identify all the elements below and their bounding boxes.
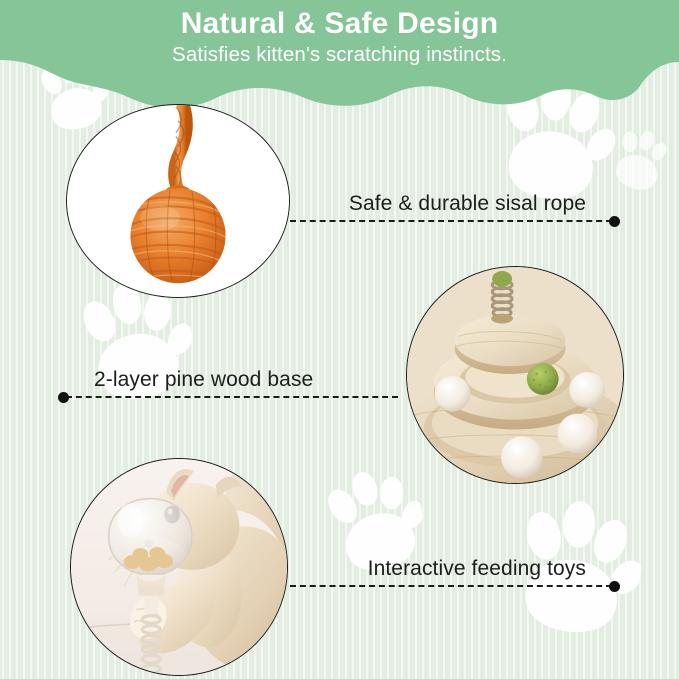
infographic-page: Natural & Safe Design Satisfies kitten's… bbox=[0, 0, 679, 679]
photo-pine-wood-tower-image bbox=[407, 267, 623, 483]
callout-sisal-rope: Safe & durable sisal rope bbox=[290, 182, 620, 228]
callout-pine-wood-base-label: 2-layer pine wood base bbox=[94, 368, 313, 392]
callout-feeding-toys: Interactive feeding toys bbox=[290, 547, 620, 593]
callout-sisal-rope-line bbox=[290, 220, 612, 222]
page-title: Natural & Safe Design bbox=[0, 7, 679, 42]
callout-pine-wood-base: 2-layer pine wood base bbox=[58, 358, 398, 404]
callout-pine-wood-base-dot bbox=[58, 392, 69, 403]
callout-sisal-rope-label: Safe & durable sisal rope bbox=[349, 192, 586, 216]
callout-feeding-toys-line bbox=[290, 585, 612, 587]
callout-feeding-toys-label: Interactive feeding toys bbox=[368, 557, 586, 581]
photo-sisal-rope-ball-image bbox=[67, 105, 289, 297]
photo-pine-wood-tower bbox=[406, 266, 624, 484]
photo-cat-with-feeder-image bbox=[71, 459, 287, 675]
photo-sisal-rope-ball bbox=[66, 104, 290, 298]
photo-cat-with-feeder bbox=[70, 458, 288, 676]
callout-sisal-rope-dot bbox=[609, 216, 620, 227]
callout-pine-wood-base-line bbox=[66, 396, 398, 398]
page-subtitle: Satisfies kitten's scratching instincts. bbox=[0, 43, 679, 67]
callout-feeding-toys-dot bbox=[609, 581, 620, 592]
banner-text-block: Natural & Safe Design Satisfies kitten's… bbox=[0, 0, 679, 67]
header-banner: Natural & Safe Design Satisfies kitten's… bbox=[0, 0, 679, 130]
